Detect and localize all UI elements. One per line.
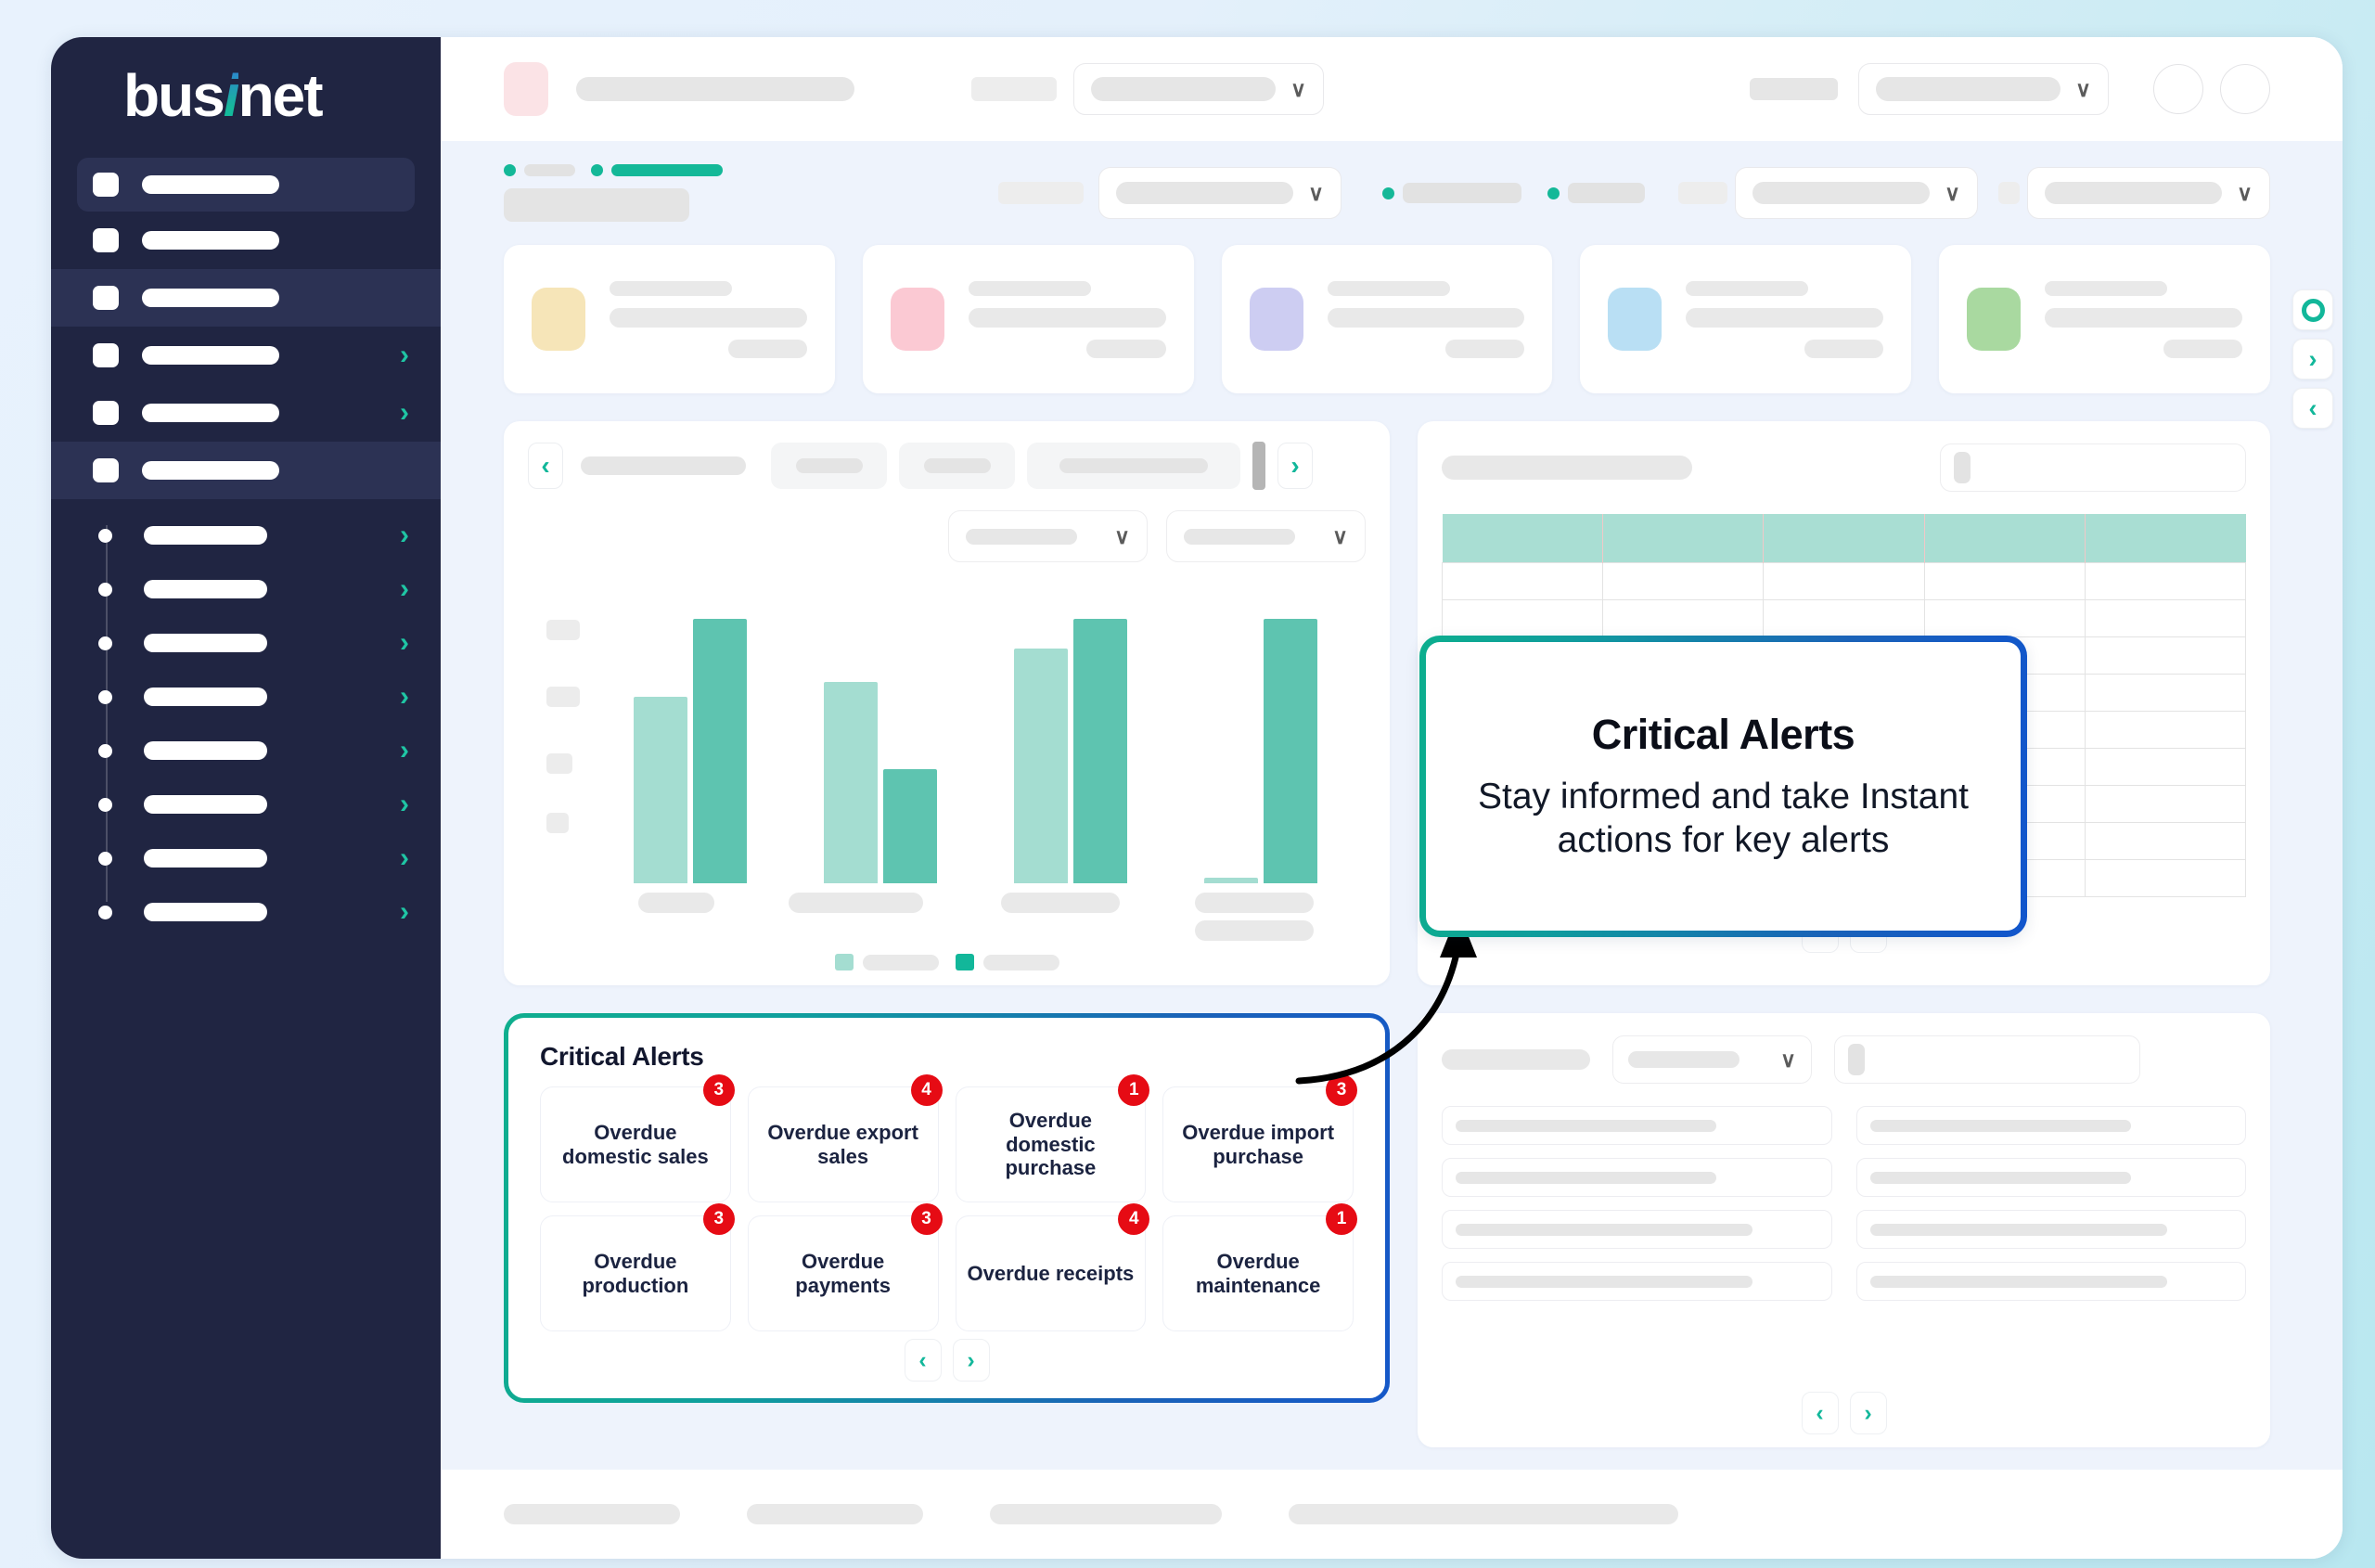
list-pagination: ‹ › — [1442, 1392, 2246, 1434]
sidebar-item-label-1 — [142, 175, 279, 194]
footer-link-2[interactable] — [747, 1504, 923, 1524]
sidebar-subitem-label-3 — [144, 634, 267, 652]
legend-label-1 — [863, 955, 939, 970]
filter-select-3[interactable]: ∨ — [2027, 167, 2270, 219]
callout-body: Stay informed and take Instant actions f… — [1450, 776, 1996, 861]
sidebar-subnav: › › › › — [51, 499, 441, 939]
table-header — [1443, 514, 2246, 562]
kpi-delta-4 — [1804, 340, 1883, 358]
breadcrumb-label-1[interactable] — [524, 164, 575, 176]
alert-tile-overdue-maintenance[interactable]: 1 Overdue maintenance — [1162, 1215, 1354, 1331]
table-cell — [1603, 562, 1764, 599]
kpi-value-4 — [1686, 308, 1883, 328]
chart-toolbar: ‹ › — [528, 442, 1366, 490]
list-item[interactable] — [1442, 1210, 1832, 1249]
bar-g3-s1[interactable] — [1014, 649, 1068, 883]
chevron-right-icon[interactable]: › — [400, 341, 409, 369]
alert-tile-overdue-export-sales[interactable]: 4 Overdue export sales — [748, 1086, 939, 1202]
list-item[interactable] — [1442, 1158, 1832, 1197]
sidebar-subitem-3[interactable]: › — [51, 616, 441, 670]
filter-label-3 — [1998, 182, 2020, 204]
list-next-button[interactable]: › — [1850, 1392, 1887, 1434]
brand-logo[interactable]: businet — [51, 37, 441, 153]
alert-badge-5: 3 — [703, 1203, 735, 1235]
alert-label-5: Overdue production — [552, 1250, 719, 1298]
table-col-3[interactable] — [1764, 514, 1924, 562]
filter-select-1[interactable]: ∨ — [1098, 167, 1342, 219]
bar-g1-s2[interactable] — [693, 619, 747, 883]
bar-chart-plot — [528, 562, 1366, 883]
chart-filter-select-2[interactable]: ∨ — [1166, 510, 1366, 562]
chevron-right-icon[interactable]: › — [400, 575, 409, 603]
header-right-select[interactable]: ∨ — [1858, 63, 2109, 115]
chevron-down-icon: ∨ — [1114, 526, 1130, 547]
breadcrumb-dot-1 — [504, 164, 516, 176]
module-icon — [504, 62, 548, 116]
sidebar-subitem-label-1 — [144, 526, 267, 545]
alert-label-3: Overdue domestic purchase — [968, 1109, 1135, 1181]
y-tick-label-1 — [546, 620, 580, 640]
left-column: ‹ › ∨ — [504, 421, 1390, 1447]
x-tick-label-3 — [1001, 893, 1120, 913]
sidebar-item-2[interactable] — [51, 212, 441, 269]
filter-select-2-value — [1752, 182, 1930, 204]
chart-tab-1[interactable] — [771, 443, 887, 489]
sidebar-subitem-5[interactable]: › — [51, 724, 441, 778]
alert-tile-overdue-payments[interactable]: 3 Overdue payments — [748, 1215, 939, 1331]
sidebar-item-6[interactable] — [51, 442, 441, 499]
kpi-label-5 — [2045, 281, 2167, 296]
chevron-right-icon[interactable]: › — [400, 790, 409, 818]
sidebar-subitem-1[interactable]: › — [51, 508, 441, 562]
sidebar-item-4[interactable]: › — [51, 327, 441, 384]
kpi-value-3 — [1328, 308, 1525, 328]
alert-badge-7: 4 — [1118, 1203, 1149, 1235]
kpi-delta-2 — [1086, 340, 1165, 358]
bar-g4-s2[interactable] — [1264, 619, 1317, 883]
bullet-dot-icon — [98, 906, 112, 919]
sidebar-subitem-7[interactable]: › — [51, 831, 441, 885]
sidebar-subitem-4[interactable]: › — [51, 670, 441, 724]
table-cell — [1443, 599, 1603, 636]
header-select-value — [1091, 77, 1276, 101]
square-icon — [93, 343, 119, 367]
alert-tile-overdue-import-purchase[interactable]: 3 Overdue import purchase — [1162, 1086, 1354, 1202]
bar-g2-s1[interactable] — [824, 682, 878, 883]
header-right-label — [1750, 78, 1838, 100]
x-tick-label-4a — [1195, 893, 1314, 913]
breadcrumb-subtitle — [504, 188, 689, 222]
table-cell — [1443, 562, 1603, 599]
avatar-1[interactable] — [2153, 64, 2203, 114]
alert-label-2: Overdue export sales — [760, 1121, 927, 1169]
breadcrumb-dot-2 — [591, 164, 603, 176]
circle-ring-icon — [2302, 299, 2325, 322]
square-icon — [93, 458, 119, 482]
kpi-label-3 — [1328, 281, 1450, 296]
floating-action-rail: › ‹ — [2292, 289, 2333, 429]
footer-link-1[interactable] — [504, 1504, 680, 1524]
kpi-icon-3 — [1250, 288, 1303, 351]
x-tick-label-2 — [789, 893, 923, 913]
y-tick-label-3 — [546, 753, 572, 774]
toggle-dot-1[interactable] — [1382, 187, 1394, 199]
list-panel-search-input[interactable] — [1834, 1035, 2140, 1084]
sidebar-subitem-label-2 — [144, 580, 267, 598]
table-cell — [2085, 711, 2245, 748]
chevron-down-icon: ∨ — [1290, 79, 1306, 100]
critical-alerts-panel: Critical Alerts 3 Overdue domestic sales… — [504, 1013, 1390, 1403]
chevron-down-icon: ∨ — [2237, 183, 2253, 204]
alerts-next-button[interactable]: › — [953, 1339, 990, 1382]
chart-scrollbar-thumb[interactable] — [1252, 442, 1265, 490]
alert-label-7: Overdue receipts — [968, 1262, 1135, 1286]
list-item[interactable] — [1856, 1210, 2247, 1249]
legend-swatch-2 — [956, 954, 974, 970]
bar-group-3 — [1014, 583, 1127, 883]
sidebar-item-3[interactable] — [51, 269, 441, 327]
list-panel: ∨ — [1418, 1013, 2270, 1447]
toggle-label-1 — [1403, 183, 1521, 203]
bullet-dot-icon — [98, 852, 112, 866]
kpi-card-2[interactable] — [863, 245, 1194, 393]
list-item-label — [1870, 1224, 2167, 1236]
alert-tile-overdue-domestic-sales[interactable]: 3 Overdue domestic sales — [540, 1086, 731, 1202]
y-axis — [537, 583, 595, 883]
footer-bar — [441, 1470, 2343, 1559]
kpi-value-1 — [610, 308, 807, 328]
kpi-card-3[interactable] — [1222, 245, 1553, 393]
chevron-down-icon: ∨ — [1332, 526, 1348, 547]
table-cell — [1603, 599, 1764, 636]
header-label — [971, 77, 1057, 101]
filter-label-1 — [998, 182, 1084, 204]
list-panel-select-value — [1628, 1051, 1740, 1068]
chevron-down-icon: ∨ — [1780, 1049, 1796, 1071]
table-cell — [1924, 562, 2085, 599]
bar-g3-s2[interactable] — [1073, 619, 1127, 883]
alert-tile-overdue-production[interactable]: 3 Overdue production — [540, 1215, 731, 1331]
chart-legend — [528, 954, 1366, 970]
table-cell — [2085, 822, 2245, 859]
chevron-down-icon: ∨ — [1945, 183, 1960, 204]
bar-g4-s1[interactable] — [1204, 878, 1258, 883]
brand-part1: bus — [123, 62, 224, 129]
footer-link-3[interactable] — [990, 1504, 1222, 1524]
search-cursor — [1954, 452, 1971, 483]
table-cell — [1764, 562, 1924, 599]
table-toolbar — [1442, 443, 2246, 492]
table-cell — [2085, 636, 2245, 674]
sidebar-subitem-6[interactable]: › — [51, 778, 441, 831]
legend-swatch-1 — [835, 954, 854, 970]
alert-label-6: Overdue payments — [760, 1250, 927, 1298]
square-icon — [93, 228, 119, 252]
list-item[interactable] — [1442, 1262, 1832, 1301]
table-cell — [2085, 859, 2245, 896]
kpi-icon-1 — [532, 288, 585, 351]
sidebar-item-5[interactable]: › — [51, 384, 441, 442]
sidebar: businet › › — [51, 37, 441, 1559]
bar-group-1 — [634, 583, 747, 883]
table-cell — [2085, 599, 2245, 636]
x-axis-labels — [528, 893, 1366, 941]
square-icon — [93, 286, 119, 310]
search-cursor — [1848, 1044, 1865, 1075]
toggle-label-2 — [1568, 183, 1645, 203]
sidebar-item-label-4 — [142, 346, 279, 365]
list-item-label — [1456, 1224, 1752, 1236]
sidebar-item-label-5 — [142, 404, 279, 422]
sidebar-item-label-2 — [142, 231, 279, 250]
chevron-right-icon[interactable]: › — [400, 399, 409, 427]
alert-tile-overdue-domestic-purchase[interactable]: 1 Overdue domestic purchase — [956, 1086, 1147, 1202]
brand-logo-text: businet — [123, 66, 322, 125]
table-cell — [2085, 674, 2245, 711]
table-row[interactable] — [1443, 562, 2246, 599]
chart-title — [581, 456, 746, 475]
y-tick-label-2 — [546, 687, 580, 707]
filter-select-2[interactable]: ∨ — [1735, 167, 1978, 219]
alert-label-1: Overdue domestic sales — [552, 1121, 719, 1169]
bullet-dot-icon — [98, 529, 112, 543]
filter-label-2 — [1678, 182, 1727, 204]
kpi-delta-3 — [1445, 340, 1524, 358]
callout-tooltip: Critical Alerts Stay informed and take I… — [1419, 636, 2027, 937]
sidebar-item-label-3 — [142, 289, 279, 307]
list-item-label — [1456, 1172, 1716, 1184]
table-col-2[interactable] — [1603, 514, 1764, 562]
kpi-delta-1 — [728, 340, 807, 358]
chevron-down-icon: ∨ — [2075, 79, 2091, 100]
kpi-card-row — [441, 245, 2343, 393]
chart-filter-select-1[interactable]: ∨ — [948, 510, 1148, 562]
kpi-value-2 — [969, 308, 1166, 328]
chevron-right-icon[interactable]: › — [400, 683, 409, 711]
kpi-icon-4 — [1608, 288, 1662, 351]
list-item[interactable] — [1856, 1106, 2247, 1145]
y-tick-label-4 — [546, 813, 569, 833]
list-item-label — [1456, 1276, 1752, 1288]
bar-group-2 — [824, 583, 937, 883]
list-item[interactable] — [1856, 1262, 2247, 1301]
alert-badge-4: 3 — [1326, 1074, 1357, 1106]
list-item[interactable] — [1442, 1106, 1832, 1145]
alert-badge-6: 3 — [911, 1203, 943, 1235]
alert-badge-2: 4 — [911, 1074, 943, 1106]
list-item[interactable] — [1856, 1158, 2247, 1197]
alerts-pagination: ‹ › — [540, 1339, 1354, 1382]
table-title — [1442, 456, 1692, 480]
kpi-value-5 — [2045, 308, 2242, 328]
table-row[interactable] — [1443, 599, 2246, 636]
rail-next-button[interactable]: › — [2292, 339, 2333, 379]
legend-label-2 — [983, 955, 1059, 970]
table-cell — [2085, 748, 2245, 785]
list-item-label — [1870, 1172, 2131, 1184]
chevron-right-icon[interactable]: › — [400, 898, 409, 926]
chevron-down-icon: ∨ — [1308, 183, 1324, 204]
list-panel-grid — [1442, 1106, 2246, 1386]
toggle-dot-2[interactable] — [1547, 187, 1560, 199]
sidebar-nav: › › › › — [51, 153, 441, 939]
chevron-right-icon[interactable]: › — [400, 629, 409, 657]
alert-badge-3: 1 — [1118, 1074, 1149, 1106]
table-header-row — [1443, 514, 2246, 562]
x-tick-label-4b — [1195, 920, 1314, 941]
table-col-4[interactable] — [1924, 514, 2085, 562]
sidebar-subitem-2[interactable]: › — [51, 562, 441, 616]
sidebar-item-label-6 — [142, 461, 279, 480]
kpi-icon-2 — [891, 288, 944, 351]
list-item-label — [1870, 1120, 2131, 1132]
alert-tile-overdue-receipts[interactable]: 4 Overdue receipts — [956, 1215, 1147, 1331]
kpi-icon-5 — [1967, 288, 2021, 351]
main-content-area: ∨ ∨ — [441, 37, 2343, 1559]
sidebar-item-1[interactable] — [77, 158, 415, 212]
header-select[interactable]: ∨ — [1073, 63, 1324, 115]
square-icon — [93, 401, 119, 425]
bullet-dot-icon — [98, 690, 112, 704]
brand-i-glyph: i — [224, 66, 238, 125]
bar-g1-s1[interactable] — [634, 697, 687, 883]
top-header-bar: ∨ ∨ — [441, 37, 2343, 141]
table-col-1[interactable] — [1443, 514, 1603, 562]
kpi-card-1[interactable] — [504, 245, 835, 393]
kpi-label-2 — [969, 281, 1091, 296]
list-panel-toolbar: ∨ — [1442, 1035, 2246, 1084]
list-item-label — [1456, 1120, 1716, 1132]
chart-prev-button[interactable]: ‹ — [528, 443, 563, 489]
table-cell — [1764, 599, 1924, 636]
alert-label-4: Overdue import purchase — [1175, 1121, 1342, 1169]
header-right-select-value — [1876, 77, 2060, 101]
alert-badge-8: 1 — [1326, 1203, 1357, 1235]
bullet-dot-icon — [98, 583, 112, 597]
breadcrumb-label-2[interactable] — [611, 164, 723, 176]
alert-label-8: Overdue maintenance — [1175, 1250, 1342, 1298]
kpi-card-4[interactable] — [1580, 245, 1911, 393]
chart-next-button[interactable]: › — [1277, 443, 1313, 489]
list-panel-select[interactable]: ∨ — [1612, 1035, 1812, 1084]
brand-part2: net — [238, 62, 322, 129]
x-tick-label-1 — [638, 893, 714, 913]
sidebar-subitem-label-8 — [144, 903, 267, 921]
filter-select-3-value — [2045, 182, 2222, 204]
callout-title: Critical Alerts — [1592, 711, 1855, 759]
avatar-2[interactable] — [2220, 64, 2270, 114]
list-prev-button[interactable]: ‹ — [1802, 1392, 1839, 1434]
critical-alerts-grid: 3 Overdue domestic sales 4 Overdue expor… — [540, 1086, 1354, 1331]
sidebar-subitem-8[interactable]: › — [51, 885, 441, 939]
bullet-dot-icon — [98, 798, 112, 812]
kpi-delta-5 — [2163, 340, 2242, 358]
breadcrumb — [504, 164, 723, 222]
rail-prev-button[interactable]: ‹ — [2292, 388, 2333, 429]
table-search-input[interactable] — [1940, 443, 2246, 492]
bar-g2-s2[interactable] — [883, 769, 937, 883]
footer-link-4[interactable] — [1289, 1504, 1678, 1524]
dashboard-grid: ‹ › ∨ — [441, 393, 2343, 1447]
page-title — [576, 77, 854, 101]
bullet-dot-icon — [98, 744, 112, 758]
chevron-right-icon[interactable]: › — [400, 844, 409, 872]
chart-tab-3[interactable] — [1027, 443, 1240, 489]
bars-area — [595, 583, 1356, 883]
alert-badge-1: 3 — [703, 1074, 735, 1106]
chart-filter-2-value — [1184, 529, 1295, 545]
sidebar-subitem-label-7 — [144, 849, 267, 868]
list-panel-title — [1442, 1049, 1590, 1070]
rail-record-button[interactable] — [2292, 289, 2333, 330]
sidebar-subitem-label-6 — [144, 795, 267, 814]
bar-group-4 — [1204, 583, 1317, 883]
toolbar-row: ∨ ∨ ∨ — [441, 141, 2343, 245]
table-cell — [2085, 785, 2245, 822]
kpi-label-4 — [1686, 281, 1808, 296]
sidebar-subitem-label-4 — [144, 688, 267, 706]
filter-select-1-value — [1116, 182, 1293, 204]
chart-filter-1-value — [966, 529, 1077, 545]
table-cell — [2085, 562, 2245, 599]
chevron-right-icon[interactable]: › — [400, 521, 409, 549]
critical-alerts-title: Critical Alerts — [540, 1042, 1354, 1072]
sidebar-subitem-label-5 — [144, 741, 267, 760]
kpi-card-5[interactable] — [1939, 245, 2270, 393]
chart-filter-row: ∨ ∨ — [528, 510, 1366, 562]
bullet-dot-icon — [98, 636, 112, 650]
table-cell — [1924, 599, 2085, 636]
chevron-right-icon[interactable]: › — [400, 737, 409, 765]
kpi-label-1 — [610, 281, 732, 296]
chart-tab-2[interactable] — [899, 443, 1015, 489]
square-icon — [93, 173, 119, 197]
list-item-label — [1870, 1276, 2167, 1288]
alerts-prev-button[interactable]: ‹ — [905, 1339, 942, 1382]
chart-panel: ‹ › ∨ — [504, 421, 1390, 985]
table-col-5[interactable] — [2085, 514, 2245, 562]
